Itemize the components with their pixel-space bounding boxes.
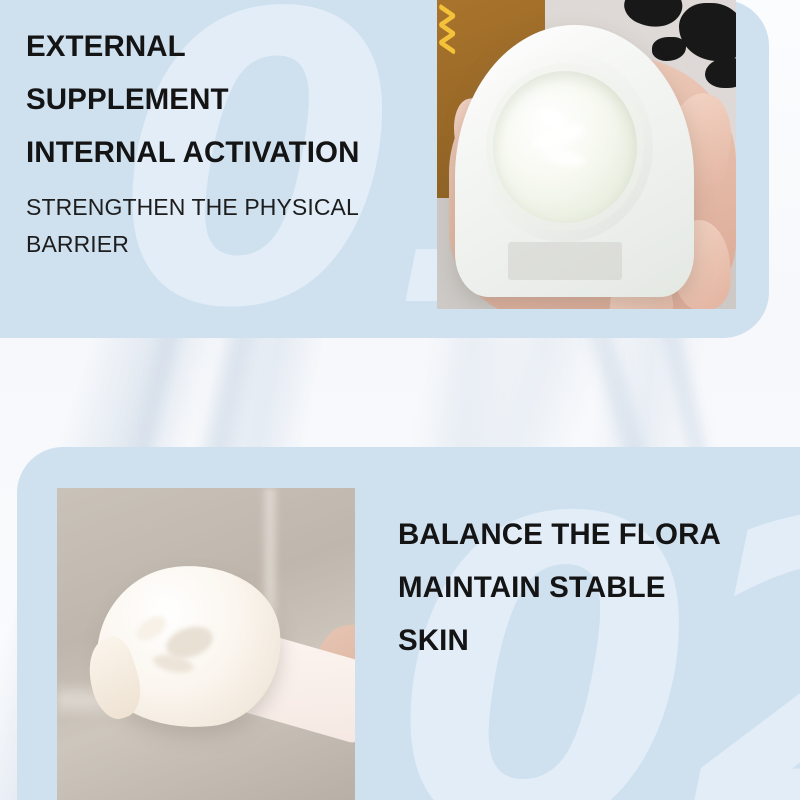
jar-label (508, 242, 623, 280)
section-02-text-block: BALANCE THE FLORA MAINTAIN STABLE SKIN (398, 508, 790, 667)
section-02-headline-line-1: BALANCE THE FLORA (398, 508, 790, 561)
section-01-subheading-line-1: STRENGTHEN THE PHYSICAL (26, 189, 446, 226)
cream-swirl (541, 146, 586, 170)
section-02-photo-cream-texture-on-spatula (57, 488, 355, 800)
cream-ridge (132, 611, 170, 646)
section-02-headline-line-2: MAINTAIN STABLE (398, 561, 790, 614)
section-01-headline-line-3: INTERNAL ACTIVATION (26, 126, 446, 179)
feature-banner-page: 01 EXTERNAL SUPPLEMENT INTERNAL ACTIVATI… (0, 0, 800, 800)
section-01-subheading-line-2: BARRIER (26, 226, 446, 263)
cow-print-spot (705, 58, 736, 89)
cow-print-spot (652, 37, 686, 61)
texture-photo-scene (57, 488, 355, 800)
section-02-headline-line-3: SKIN (398, 614, 790, 667)
cream-surface (493, 71, 637, 223)
section-01-headline-line-2: SUPPLEMENT (26, 73, 446, 126)
cow-print-spot (679, 3, 736, 61)
jar-photo-scene (437, 0, 736, 309)
section-01-text-block: EXTERNAL SUPPLEMENT INTERNAL ACTIVATION … (26, 20, 446, 263)
section-01-headline-line-1: EXTERNAL (26, 20, 446, 73)
section-01-photo-jar-of-cream-held-in-hand (437, 0, 736, 309)
cow-print-spot (620, 0, 688, 35)
